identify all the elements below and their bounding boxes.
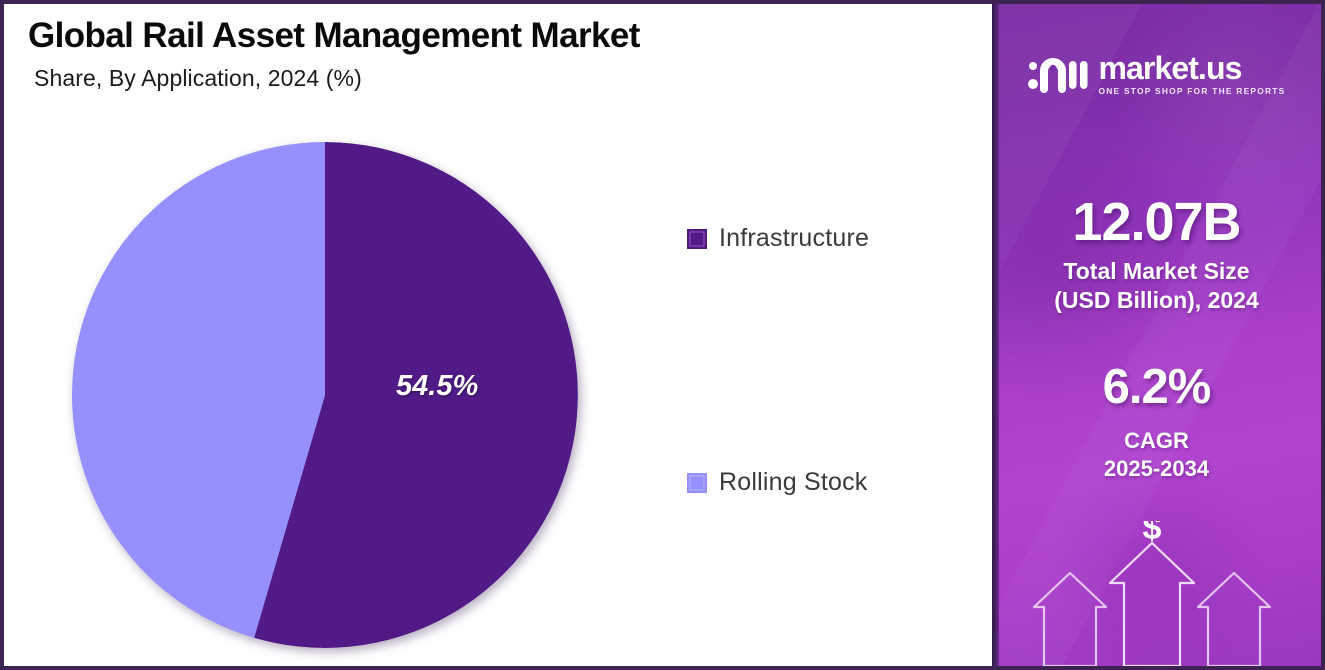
growth-arrows-icon: $	[1032, 521, 1282, 666]
page-title: Global Rail Asset Management Market	[28, 16, 928, 55]
dollar-sign-icon: $	[1142, 521, 1161, 547]
legend-item-rolling-stock[interactable]: Rolling Stock	[687, 468, 868, 497]
cagr-caption-line1: CAGR	[992, 427, 1321, 455]
market-size-stat: 12.07B Total Market Size (USD Billion), …	[992, 194, 1321, 315]
infographic-root: Global Rail Asset Management Market Shar…	[0, 0, 1325, 670]
market-size-caption-line1: Total Market Size	[992, 257, 1321, 286]
logo-text: market.us ONE STOP SHOP FOR THE REPORTS	[1098, 52, 1285, 95]
market-size-value: 12.07B	[992, 194, 1321, 250]
cagr-caption: CAGR 2025-2034	[992, 427, 1321, 482]
page-subtitle: Share, By Application, 2024 (%)	[34, 65, 928, 92]
legend-label-rolling-stock: Rolling Stock	[719, 468, 868, 497]
cagr-value: 6.2%	[992, 362, 1321, 413]
market-size-caption: Total Market Size (USD Billion), 2024	[992, 257, 1321, 315]
pie-svg	[72, 142, 578, 648]
market-us-logo-icon	[1027, 53, 1089, 95]
pie-chart: 54.5%	[72, 142, 584, 654]
legend-swatch-icon	[687, 473, 707, 493]
chart-area: Global Rail Asset Management Market Shar…	[4, 4, 992, 666]
title-block: Global Rail Asset Management Market Shar…	[28, 16, 928, 92]
pie-slice-label-infrastructure: 54.5%	[396, 370, 478, 403]
logo-wordmark: market.us	[1098, 52, 1241, 84]
stats-panel: market.us ONE STOP SHOP FOR THE REPORTS …	[992, 4, 1321, 666]
legend-label-infrastructure: Infrastructure	[719, 224, 869, 253]
market-size-caption-line2: (USD Billion), 2024	[992, 286, 1321, 315]
legend-swatch-icon	[687, 229, 707, 249]
brand-logo[interactable]: market.us ONE STOP SHOP FOR THE REPORTS	[992, 52, 1321, 95]
logo-tagline: ONE STOP SHOP FOR THE REPORTS	[1098, 87, 1285, 95]
cagr-caption-line2: 2025-2034	[992, 455, 1321, 483]
legend-item-infrastructure[interactable]: Infrastructure	[687, 224, 869, 253]
panel-edge	[992, 4, 999, 666]
cagr-stat: 6.2% CAGR 2025-2034	[992, 362, 1321, 482]
